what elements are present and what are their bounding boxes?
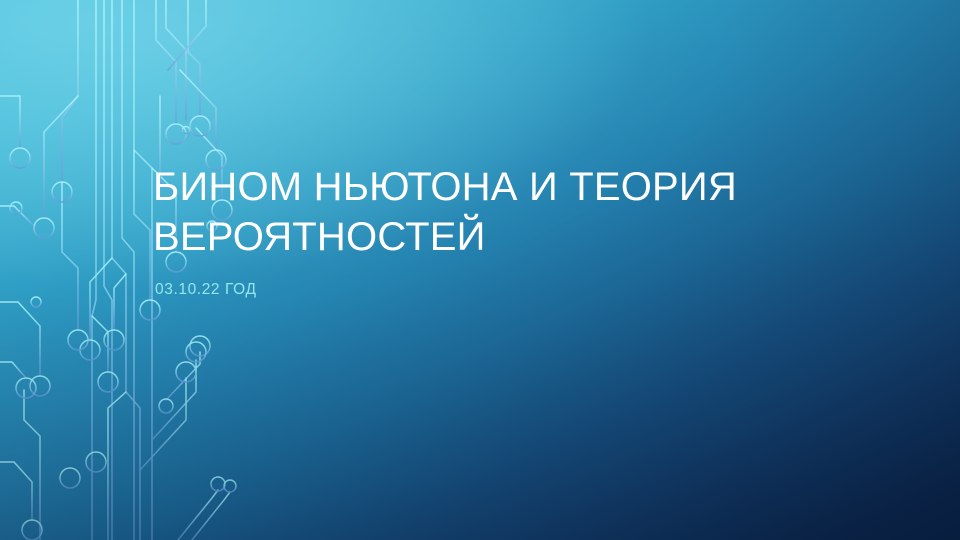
page-title: БИНОМ НЬЮТОНА И ТЕОРИЯ ВЕРОЯТНОСТЕЙ	[153, 162, 853, 263]
title-text-block: БИНОМ НЬЮТОНА И ТЕОРИЯ ВЕРОЯТНОСТЕЙ 03.1…	[153, 162, 853, 299]
title-slide: БИНОМ НЬЮТОНА И ТЕОРИЯ ВЕРОЯТНОСТЕЙ 03.1…	[0, 0, 960, 540]
slide-subtitle-date: 03.10.22 ГОД	[155, 281, 853, 299]
